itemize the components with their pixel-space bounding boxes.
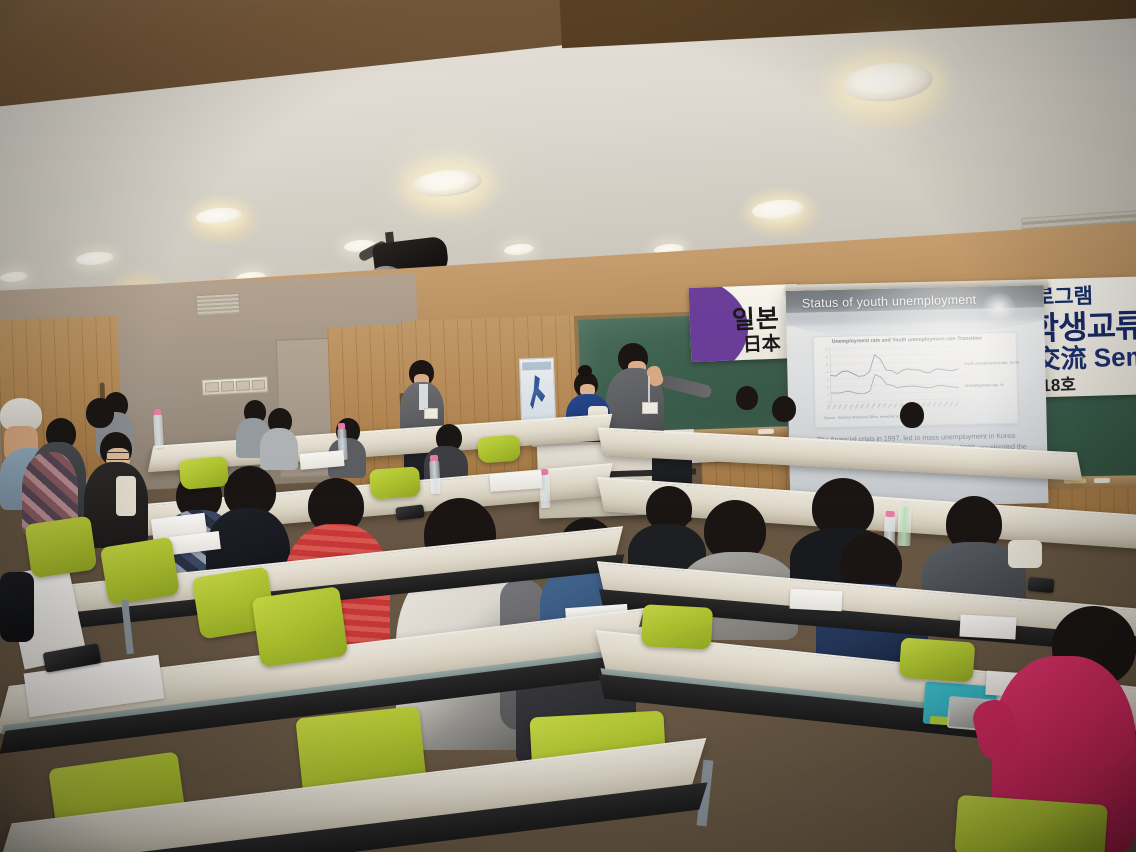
water-bottle[interactable] (153, 414, 164, 448)
green-chair[interactable] (899, 637, 976, 682)
light-switch[interactable] (236, 380, 250, 391)
hair-bun (578, 365, 592, 377)
wall-speaker (195, 293, 240, 317)
green-chair[interactable] (641, 604, 713, 650)
green-chair[interactable] (369, 466, 421, 499)
attendee-head (772, 396, 796, 422)
paper-handout (489, 470, 542, 492)
paper-handout (959, 615, 1016, 640)
name-badge (424, 408, 438, 419)
water-bottle[interactable] (429, 460, 441, 494)
green-chair[interactable] (100, 537, 180, 606)
banner-left-line2: 日本 (742, 329, 781, 357)
bottle-cap (338, 423, 345, 429)
green-chair[interactable] (179, 456, 229, 490)
inner-blouse (116, 476, 136, 516)
attendee-head (900, 402, 924, 428)
attendee-shoulder (0, 572, 34, 642)
poster-figure-icon (528, 375, 545, 410)
paper-handout (790, 589, 843, 612)
light-switch[interactable] (205, 382, 219, 393)
paper-in-hand (1008, 540, 1042, 568)
banner-right-line4: 18호 (1041, 370, 1076, 396)
shirt-collar (419, 384, 428, 410)
bottle-cap (430, 455, 438, 461)
attendee-torso (260, 428, 298, 470)
bottle-cap (154, 409, 161, 415)
green-tea-bottle[interactable] (897, 506, 911, 546)
poster-title-bar (522, 362, 551, 371)
green-chair[interactable] (252, 586, 349, 668)
smartphone[interactable] (395, 504, 424, 520)
attendee-head (736, 386, 758, 410)
bottle-cap (886, 511, 895, 517)
green-chair[interactable] (954, 795, 1108, 852)
eyeglasses-icon (106, 452, 130, 460)
name-badge (642, 402, 658, 414)
light-switch[interactable] (251, 379, 265, 390)
green-chair[interactable] (477, 435, 521, 464)
chalk-piece[interactable] (1094, 478, 1110, 483)
green-chair[interactable] (25, 516, 98, 579)
bottle-cap (901, 501, 910, 507)
smartphone[interactable] (1027, 577, 1054, 593)
light-switch[interactable] (220, 381, 234, 392)
chalk-piece[interactable] (758, 429, 774, 435)
wall-poster (519, 357, 556, 422)
banner-left: 일본 츄오 日本 (689, 284, 800, 362)
seminar-room-photo: 일본 츄오 日本 로그램 학생교류 交流 Semi 18호 Status of … (0, 0, 1136, 852)
attendee-head (86, 398, 114, 428)
